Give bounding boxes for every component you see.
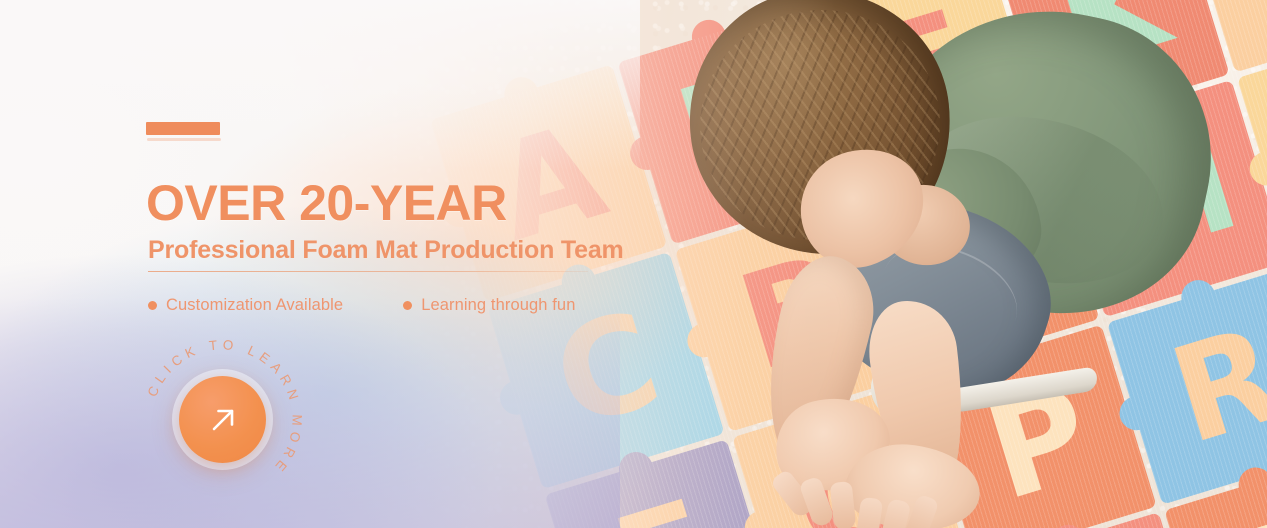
- accent-bar: [146, 122, 220, 135]
- bullet-dot-icon: [403, 301, 412, 310]
- feature-label: Learning through fun: [421, 296, 575, 315]
- list-item: Customization Available: [148, 296, 343, 315]
- feature-label: Customization Available: [166, 296, 343, 315]
- accent-bar-shadow: [147, 138, 221, 141]
- cta-group[interactable]: CLICK TO LEARN MORE: [135, 332, 310, 507]
- divider: [148, 271, 588, 272]
- list-item: Learning through fun: [403, 296, 575, 315]
- feature-list: Customization Available Learning through…: [148, 296, 575, 315]
- page-title: OVER 20-YEAR: [146, 178, 507, 228]
- learn-more-button[interactable]: [179, 376, 266, 463]
- banner-content: OVER 20-YEAR Professional Foam Mat Produ…: [146, 0, 746, 528]
- arrow-up-right-icon: [206, 403, 240, 437]
- bullet-dot-icon: [148, 301, 157, 310]
- subtitle: Professional Foam Mat Production Team: [148, 238, 624, 263]
- promo-banner: AHEKLCBDMNFGPRSTUVWZ: [0, 0, 1267, 528]
